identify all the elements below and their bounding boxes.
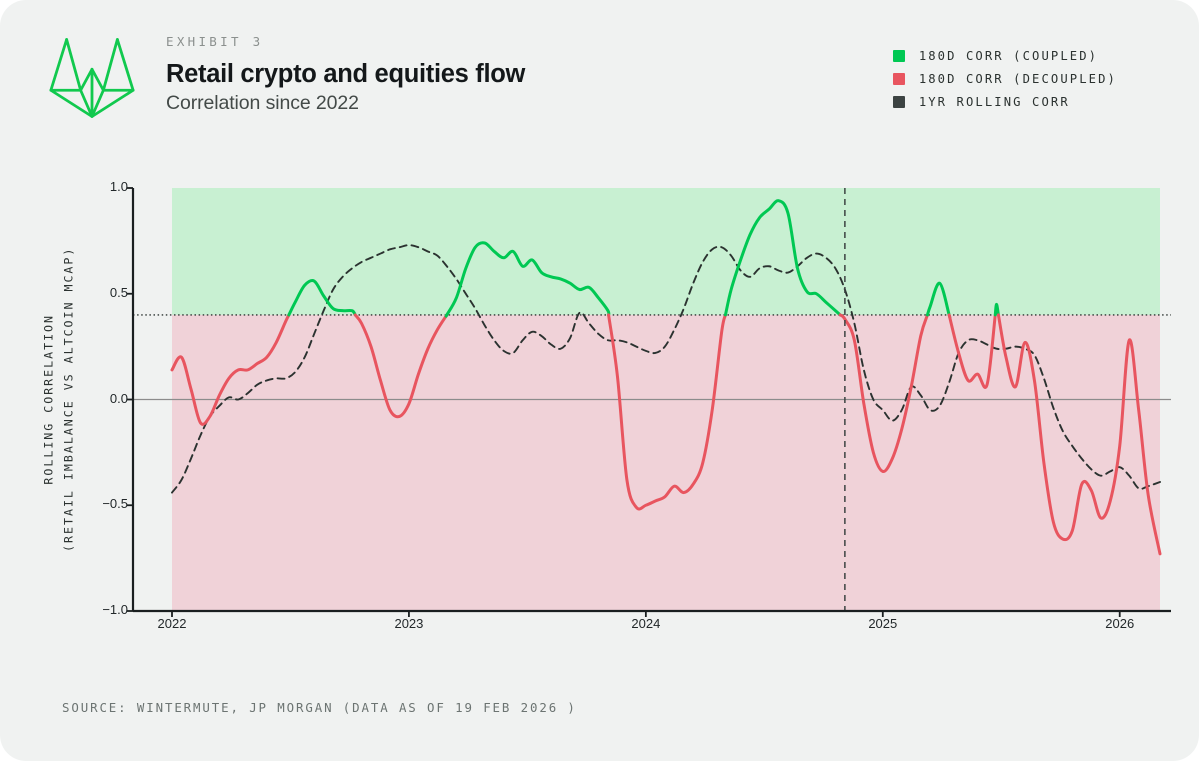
source-note: SOURCE: WINTERMUTE, JP MORGAN (DATA AS O… bbox=[62, 700, 577, 715]
band-coupled bbox=[172, 188, 1160, 315]
chart-area: ROLLING CORRELATION (RETAIL IMBALANCE VS… bbox=[0, 0, 1199, 761]
series-180d-coupled-9 bbox=[995, 304, 998, 315]
chart-svg bbox=[0, 0, 1199, 761]
exhibit-card: EXHIBIT 3 Retail crypto and equities flo… bbox=[0, 0, 1199, 761]
band-decoupled bbox=[172, 315, 1160, 611]
